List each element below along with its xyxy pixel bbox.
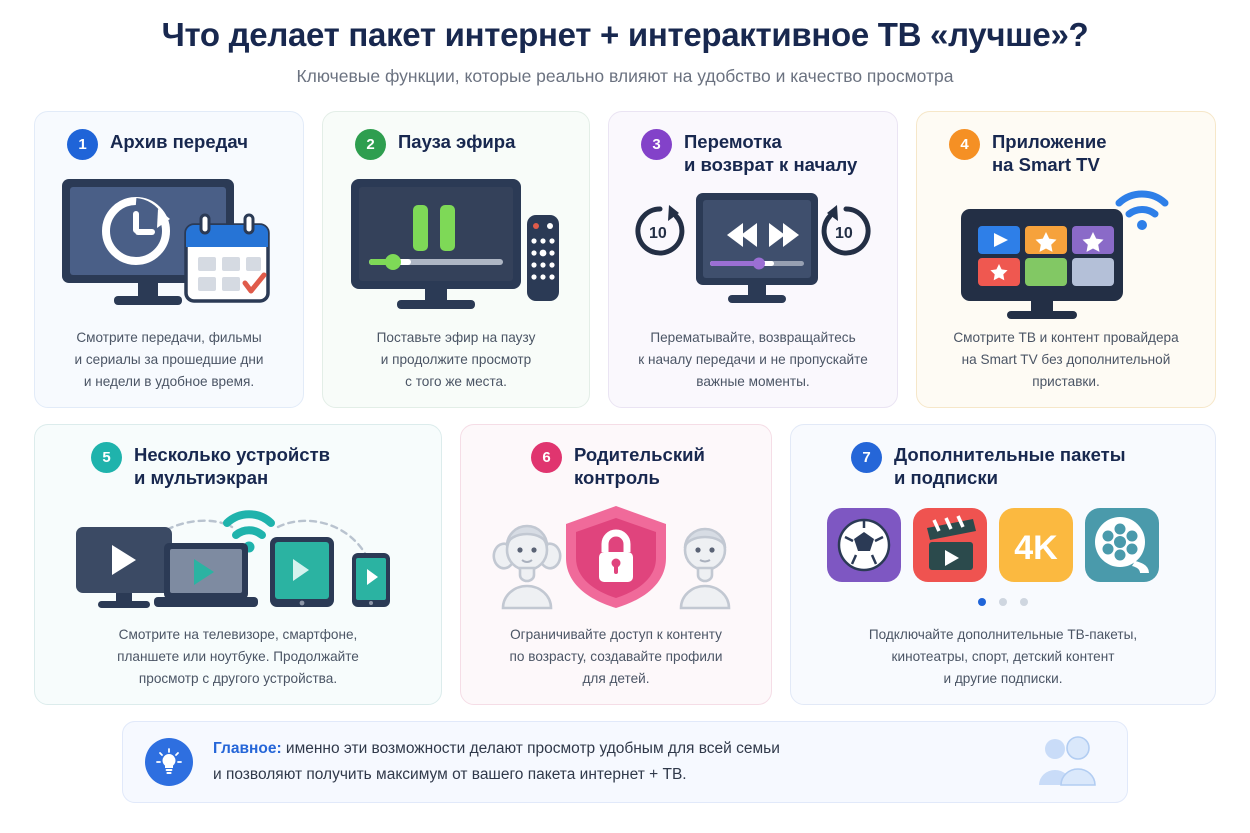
summary-banner: Главное: именно эти возможности делают п… — [122, 721, 1128, 803]
card-caption-5: Смотрите на телевизоре, смартфоне, планш… — [49, 624, 427, 690]
card-title-4: Приложение на Smart TV — [992, 128, 1107, 176]
card-title-3: Перемотка и возврат к началу — [684, 128, 857, 176]
card-badge-5: 5 — [91, 442, 122, 473]
summary-text: Главное: именно эти возможности делают п… — [213, 736, 1015, 787]
card-header: 6 Родительский контроль — [475, 441, 757, 489]
card-badge-3: 3 — [641, 129, 672, 160]
feature-card-7[interactable]: 7 Дополнительные пакеты и подписки — [790, 424, 1216, 705]
illustration-tv-rewind-forward: 10 — [623, 176, 883, 327]
summary-line-1: именно эти возможности делают просмотр у… — [282, 740, 780, 757]
summary-lead: Главное: — [213, 740, 282, 757]
card-title-1: Архив передач — [110, 128, 248, 154]
illustration-tv-pause-remote — [337, 160, 575, 327]
carousel-dot-1[interactable] — [978, 598, 986, 606]
feature-card-4[interactable]: 4 Приложение на Smart TV — [916, 111, 1216, 408]
card-header: 4 Приложение на Smart TV — [931, 128, 1201, 176]
page-subtitle: Ключевые функции, которые реально влияют… — [34, 66, 1216, 87]
card-caption-4: Смотрите ТВ и контент провайдера на Smar… — [931, 327, 1201, 393]
card-badge-1: 1 — [67, 129, 98, 160]
card-caption-6: Ограничивайте доступ к контенту по возра… — [475, 624, 757, 690]
child-girl-icon — [494, 526, 560, 608]
svg-text:10: 10 — [835, 225, 853, 242]
illustration-content-packages: 4K — [805, 489, 1201, 624]
carousel-dot-3[interactable] — [1020, 598, 1028, 606]
illustration-tv-clock-calendar — [49, 160, 289, 327]
feature-card-1[interactable]: 1 Архив передач — [34, 111, 304, 408]
card-header: 7 Дополнительные пакеты и подписки — [805, 441, 1201, 489]
header: Что делает пакет интернет + интерактивно… — [34, 0, 1216, 87]
illustration-multi-device — [49, 489, 427, 624]
infographic-page: Что делает пакет интернет + интерактивно… — [0, 0, 1250, 833]
feature-card-3[interactable]: 3 Перемотка и возврат к началу 10 — [608, 111, 898, 408]
rewind-10-icon: 10 — [638, 205, 682, 253]
card-badge-7: 7 — [851, 442, 882, 473]
card-title-7: Дополнительные пакеты и подписки — [894, 441, 1126, 489]
card-title-6: Родительский контроль — [574, 441, 705, 489]
card-badge-2: 2 — [355, 129, 386, 160]
card-header: 2 Пауза эфира — [337, 128, 575, 160]
svg-text:10: 10 — [649, 225, 667, 242]
card-caption-1: Смотрите передачи, фильмы и сериалы за п… — [49, 327, 289, 393]
card-caption-2: Поставьте эфир на паузу и продолжите про… — [337, 327, 575, 393]
child-boy-icon — [681, 529, 729, 608]
wifi-icon — [1119, 195, 1165, 231]
carousel-dot-2[interactable] — [999, 598, 1007, 606]
card-caption-7: Подключайте дополнительные ТВ-пакеты, ки… — [805, 624, 1201, 690]
card-header: 3 Перемотка и возврат к началу — [623, 128, 883, 176]
feature-card-6[interactable]: 6 Родительский контроль — [460, 424, 772, 705]
forward-10-icon: 10 — [824, 205, 868, 253]
card-title-2: Пауза эфира — [398, 128, 515, 154]
card-caption-3: Перематывайте, возвращайтесь к началу пе… — [623, 327, 883, 393]
card-badge-4: 4 — [949, 129, 980, 160]
card-title-5: Несколько устройств и мультиэкран — [134, 441, 330, 489]
card-header: 5 Несколько устройств и мультиэкран — [49, 441, 427, 489]
carousel-dots[interactable] — [978, 598, 1028, 606]
feature-card-5[interactable]: 5 Несколько устройств и мультиэкран — [34, 424, 442, 705]
illustration-smart-tv-apps — [931, 176, 1201, 327]
lightbulb-icon — [145, 738, 193, 786]
cards-row-1: 1 Архив передач — [34, 111, 1216, 408]
page-title: Что делает пакет интернет + интерактивно… — [34, 16, 1216, 54]
summary-line-2: и позволяют получить максимум от вашего … — [213, 762, 1015, 788]
two-people-icon — [1035, 735, 1099, 789]
tile-4k-label: 4K — [1014, 529, 1058, 567]
card-badge-6: 6 — [531, 442, 562, 473]
feature-card-2[interactable]: 2 Пауза эфира — [322, 111, 590, 408]
cards-row-2: 5 Несколько устройств и мультиэкран — [34, 424, 1216, 705]
card-header: 1 Архив передач — [49, 128, 289, 160]
illustration-shield-lock-kids — [475, 489, 757, 624]
